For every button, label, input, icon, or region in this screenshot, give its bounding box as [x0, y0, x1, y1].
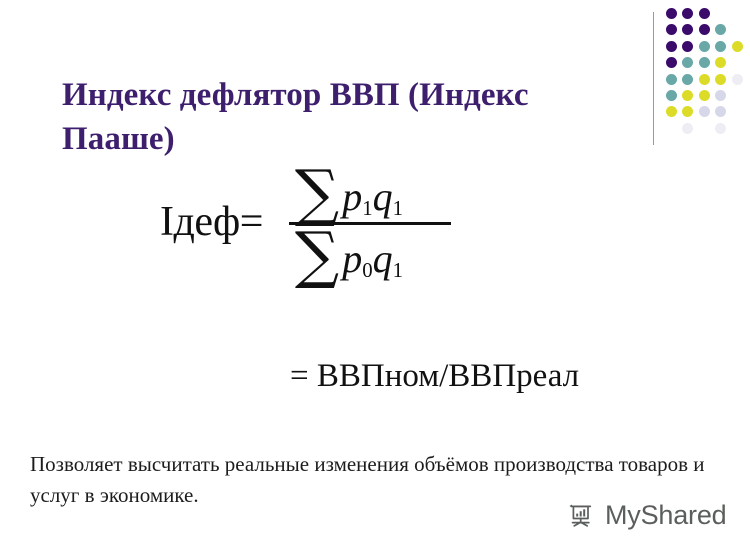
- decor-dot: [699, 8, 710, 19]
- denominator-q-subscript: 1: [393, 259, 403, 282]
- denominator-p-subscript: 0: [362, 259, 372, 282]
- presentation-chart-icon: [566, 501, 596, 531]
- decor-dot: [682, 106, 693, 117]
- decorative-dot-grid: [666, 8, 750, 148]
- decor-dot: [732, 41, 743, 52]
- vertical-divider-rule: [653, 12, 654, 145]
- equality-expression: = ВВПном/ВВПреал: [290, 358, 579, 395]
- sigma-icon: ∑: [295, 231, 339, 279]
- decor-dot: [682, 74, 693, 85]
- decor-dot: [666, 90, 677, 101]
- fraction-numerator: ∑ p1q1: [289, 165, 451, 220]
- decor-dot: [666, 24, 677, 35]
- decor-dot: [682, 90, 693, 101]
- formula-left-hand-side: Iдеф=: [160, 201, 263, 247]
- denominator-p: p: [342, 236, 362, 281]
- numerator-p-subscript: 1: [362, 197, 372, 220]
- numerator-operand: p1q1: [342, 173, 403, 220]
- decor-dot: [699, 106, 710, 117]
- decor-dot: [682, 57, 693, 68]
- formula-fraction: ∑ p1q1 ∑ p0q1: [289, 165, 451, 282]
- decor-dot: [715, 57, 726, 68]
- decor-dot: [666, 41, 677, 52]
- fraction-denominator: ∑ p0q1: [289, 227, 451, 282]
- decor-dot: [682, 24, 693, 35]
- decor-dot: [666, 106, 677, 117]
- decor-dot: [715, 74, 726, 85]
- deflator-formula: Iдеф= ∑ p1q1 ∑ p0q1: [160, 165, 451, 282]
- decor-dot: [699, 24, 710, 35]
- decor-dot: [699, 74, 710, 85]
- numerator-q-subscript: 1: [393, 197, 403, 220]
- watermark-label: MyShared: [605, 500, 726, 531]
- decor-dot: [682, 41, 693, 52]
- decor-dot: [682, 8, 693, 19]
- decor-dot: [715, 123, 726, 134]
- decor-dot: [699, 90, 710, 101]
- decor-dot: [715, 90, 726, 101]
- decor-dot: [666, 57, 677, 68]
- numerator-p: p: [342, 174, 362, 219]
- denominator-q: q: [373, 236, 393, 281]
- decor-dot: [715, 41, 726, 52]
- sigma-icon: ∑: [295, 169, 339, 217]
- denominator-operand: p0q1: [342, 235, 403, 282]
- slide-canvas: Индекс дефлятор ВВП (Индекс Пааше) Iдеф=…: [0, 0, 750, 556]
- decor-dot: [699, 41, 710, 52]
- page-title: Индекс дефлятор ВВП (Индекс Пааше): [62, 74, 642, 161]
- numerator-q: q: [373, 174, 393, 219]
- decor-dot: [699, 57, 710, 68]
- decor-dot: [732, 74, 743, 85]
- decor-dot: [682, 123, 693, 134]
- decor-dot: [666, 8, 677, 19]
- decor-dot: [715, 24, 726, 35]
- decor-dot: [666, 74, 677, 85]
- myshared-watermark: MyShared: [566, 500, 726, 531]
- decor-dot: [715, 106, 726, 117]
